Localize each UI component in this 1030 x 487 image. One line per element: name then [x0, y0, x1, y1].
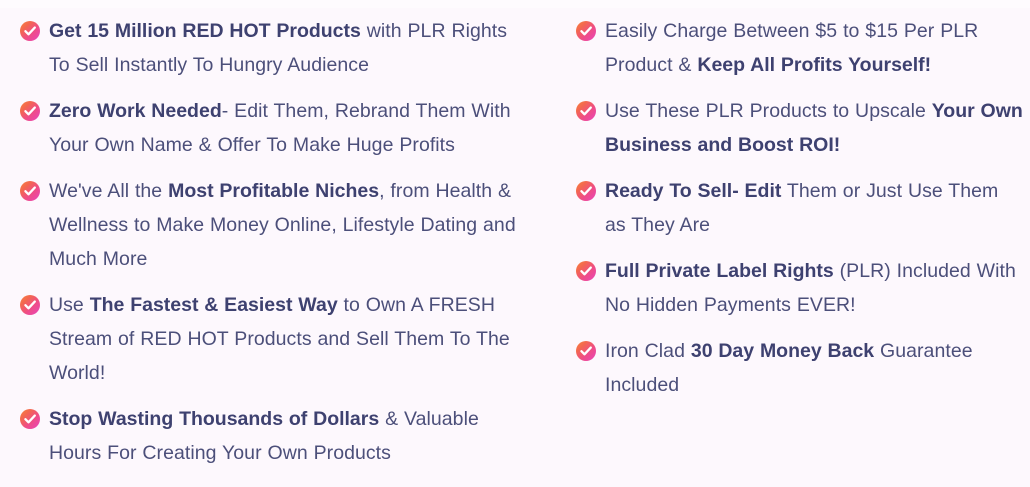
benefit-item-text: Stop Wasting Thousands of Dollars & Valu…: [49, 402, 530, 470]
benefits-section: Get 15 Million RED HOT Products with PLR…: [0, 0, 1030, 487]
benefit-list-item: Easily Charge Between $5 to $15 Per PLR …: [576, 14, 1024, 82]
benefit-plain-text: Use These PLR Products to Upscale: [605, 100, 932, 122]
benefit-item-text: Use The Fastest & Easiest Way to Own A F…: [49, 288, 530, 390]
benefit-item-text: Easily Charge Between $5 to $15 Per PLR …: [605, 14, 1024, 82]
benefit-list-item: Stop Wasting Thousands of Dollars & Valu…: [20, 402, 530, 470]
check-circle-icon: [576, 21, 596, 41]
benefit-item-text: Full Private Label Rights (PLR) Included…: [605, 254, 1024, 322]
check-circle-icon: [20, 21, 40, 41]
check-circle-icon: [576, 341, 596, 361]
benefit-emphasis: Stop Wasting Thousands of Dollars: [49, 408, 379, 430]
check-circle-icon: [576, 101, 596, 121]
benefit-list-item: Use The Fastest & Easiest Way to Own A F…: [20, 288, 530, 390]
benefit-plain-text: Use: [49, 294, 90, 316]
benefit-column-right: Easily Charge Between $5 to $15 Per PLR …: [538, 14, 1030, 402]
benefit-list-item: Ready To Sell- Edit Them or Just Use The…: [576, 174, 1024, 242]
check-circle-icon: [20, 295, 40, 315]
benefit-emphasis: Most Profitable Niches: [168, 180, 379, 202]
benefit-list-item: Iron Clad 30 Day Money Back Guarantee In…: [576, 334, 1024, 402]
benefit-emphasis: The Fastest & Easiest Way: [90, 294, 338, 316]
benefit-list-item: Full Private Label Rights (PLR) Included…: [576, 254, 1024, 322]
benefit-list-item: Get 15 Million RED HOT Products with PLR…: [20, 14, 530, 82]
benefit-item-text: Use These PLR Products to Upscale Your O…: [605, 94, 1024, 162]
benefit-column-left: Get 15 Million RED HOT Products with PLR…: [0, 14, 538, 470]
benefit-emphasis: Full Private Label Rights: [605, 260, 834, 282]
benefit-list-item: We've All the Most Profitable Niches, fr…: [20, 174, 530, 276]
benefit-plain-text: We've All the: [49, 180, 168, 202]
check-circle-icon: [20, 181, 40, 201]
benefit-list-item: Zero Work Needed- Edit Them, Rebrand The…: [20, 94, 530, 162]
check-circle-icon: [20, 101, 40, 121]
benefit-item-text: Zero Work Needed- Edit Them, Rebrand The…: [49, 94, 530, 162]
check-circle-icon: [20, 409, 40, 429]
benefit-item-text: We've All the Most Profitable Niches, fr…: [49, 174, 530, 276]
benefit-item-text: Ready To Sell- Edit Them or Just Use The…: [605, 174, 1024, 242]
benefit-list-item: Use These PLR Products to Upscale Your O…: [576, 94, 1024, 162]
benefit-emphasis: Ready To Sell- Edit: [605, 180, 781, 202]
benefit-emphasis: Keep All Profits Yourself!: [697, 54, 931, 76]
benefit-plain-text: Iron Clad: [605, 340, 691, 362]
benefit-emphasis: Zero Work Needed: [49, 100, 222, 122]
check-circle-icon: [576, 181, 596, 201]
benefit-item-text: Get 15 Million RED HOT Products with PLR…: [49, 14, 530, 82]
benefit-emphasis: 30 Day Money Back: [691, 340, 874, 362]
check-circle-icon: [576, 261, 596, 281]
benefit-emphasis: Get 15 Million RED HOT Products: [49, 20, 361, 42]
benefit-item-text: Iron Clad 30 Day Money Back Guarantee In…: [605, 334, 1024, 402]
